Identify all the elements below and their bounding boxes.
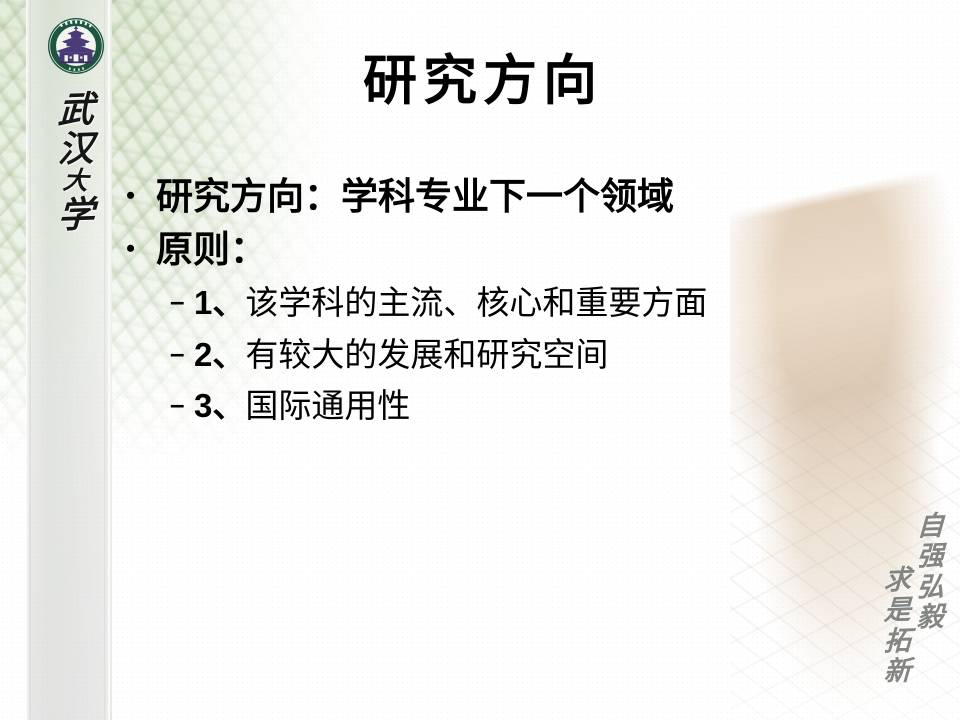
motto-char: 强	[916, 541, 944, 572]
bullet-dash-icon: –	[170, 391, 194, 417]
wordmark-char: 大	[62, 169, 89, 195]
sub-bullet-text: 国际通用性	[245, 383, 410, 433]
sub-bullet-index: 3、	[194, 381, 245, 431]
sub-bullet-text: 该学科的主流、核心和重要方面	[245, 280, 707, 330]
bullet-dash-icon: –	[170, 340, 194, 366]
sub-bullet-item: – 2、 有较大的发展和研究空间	[170, 330, 826, 382]
bullet-item: • 研究方向：学科专业下一个领域	[126, 172, 826, 223]
presentation-slide: 武 汉 大 学 研究方向 • 研究方向：学科专业下一个领域 • 原则： – 1、…	[0, 0, 960, 720]
bullet-dash-icon: –	[170, 288, 194, 314]
sub-bullet-item: – 3、 国际通用性	[170, 381, 826, 433]
sub-bullet-index: 2、	[194, 330, 245, 380]
bullet-dot-icon: •	[126, 183, 156, 209]
bullet-text: 原则：	[156, 225, 267, 276]
motto-column-ziqiang-hongyi: 自 强 弘 毅	[917, 511, 944, 632]
wordmark-char: 汉	[57, 130, 94, 168]
motto-char: 新	[883, 655, 911, 686]
bullet-item: • 原则：	[126, 225, 826, 276]
motto-char: 拓	[883, 625, 911, 656]
wordmark-char: 学	[57, 196, 94, 234]
sub-bullet-item: – 1、 该学科的主流、核心和重要方面	[170, 278, 826, 330]
bullet-dot-icon: •	[126, 236, 156, 262]
motto-char: 是	[883, 595, 911, 626]
motto-char: 求	[883, 565, 911, 596]
motto-column-qiushi-tuoxin: 求 是 拓 新	[884, 565, 911, 686]
slide-title: 研究方向	[0, 52, 960, 111]
motto-char: 毅	[916, 601, 944, 632]
wuhan-university-calligraphy-wordmark: 武 汉 大 学	[44, 92, 108, 234]
university-motto: 求 是 拓 新 自 强 弘 毅	[884, 511, 944, 686]
motto-char: 弘	[916, 571, 944, 602]
bullet-text: 研究方向：学科专业下一个领域	[156, 172, 674, 223]
sub-bullet-text: 有较大的发展和研究空间	[245, 332, 608, 382]
motto-char: 自	[916, 511, 944, 542]
sub-bullet-index: 1、	[194, 278, 245, 328]
slide-body-content: • 研究方向：学科专业下一个领域 • 原则： – 1、 该学科的主流、核心和重要…	[126, 172, 826, 433]
